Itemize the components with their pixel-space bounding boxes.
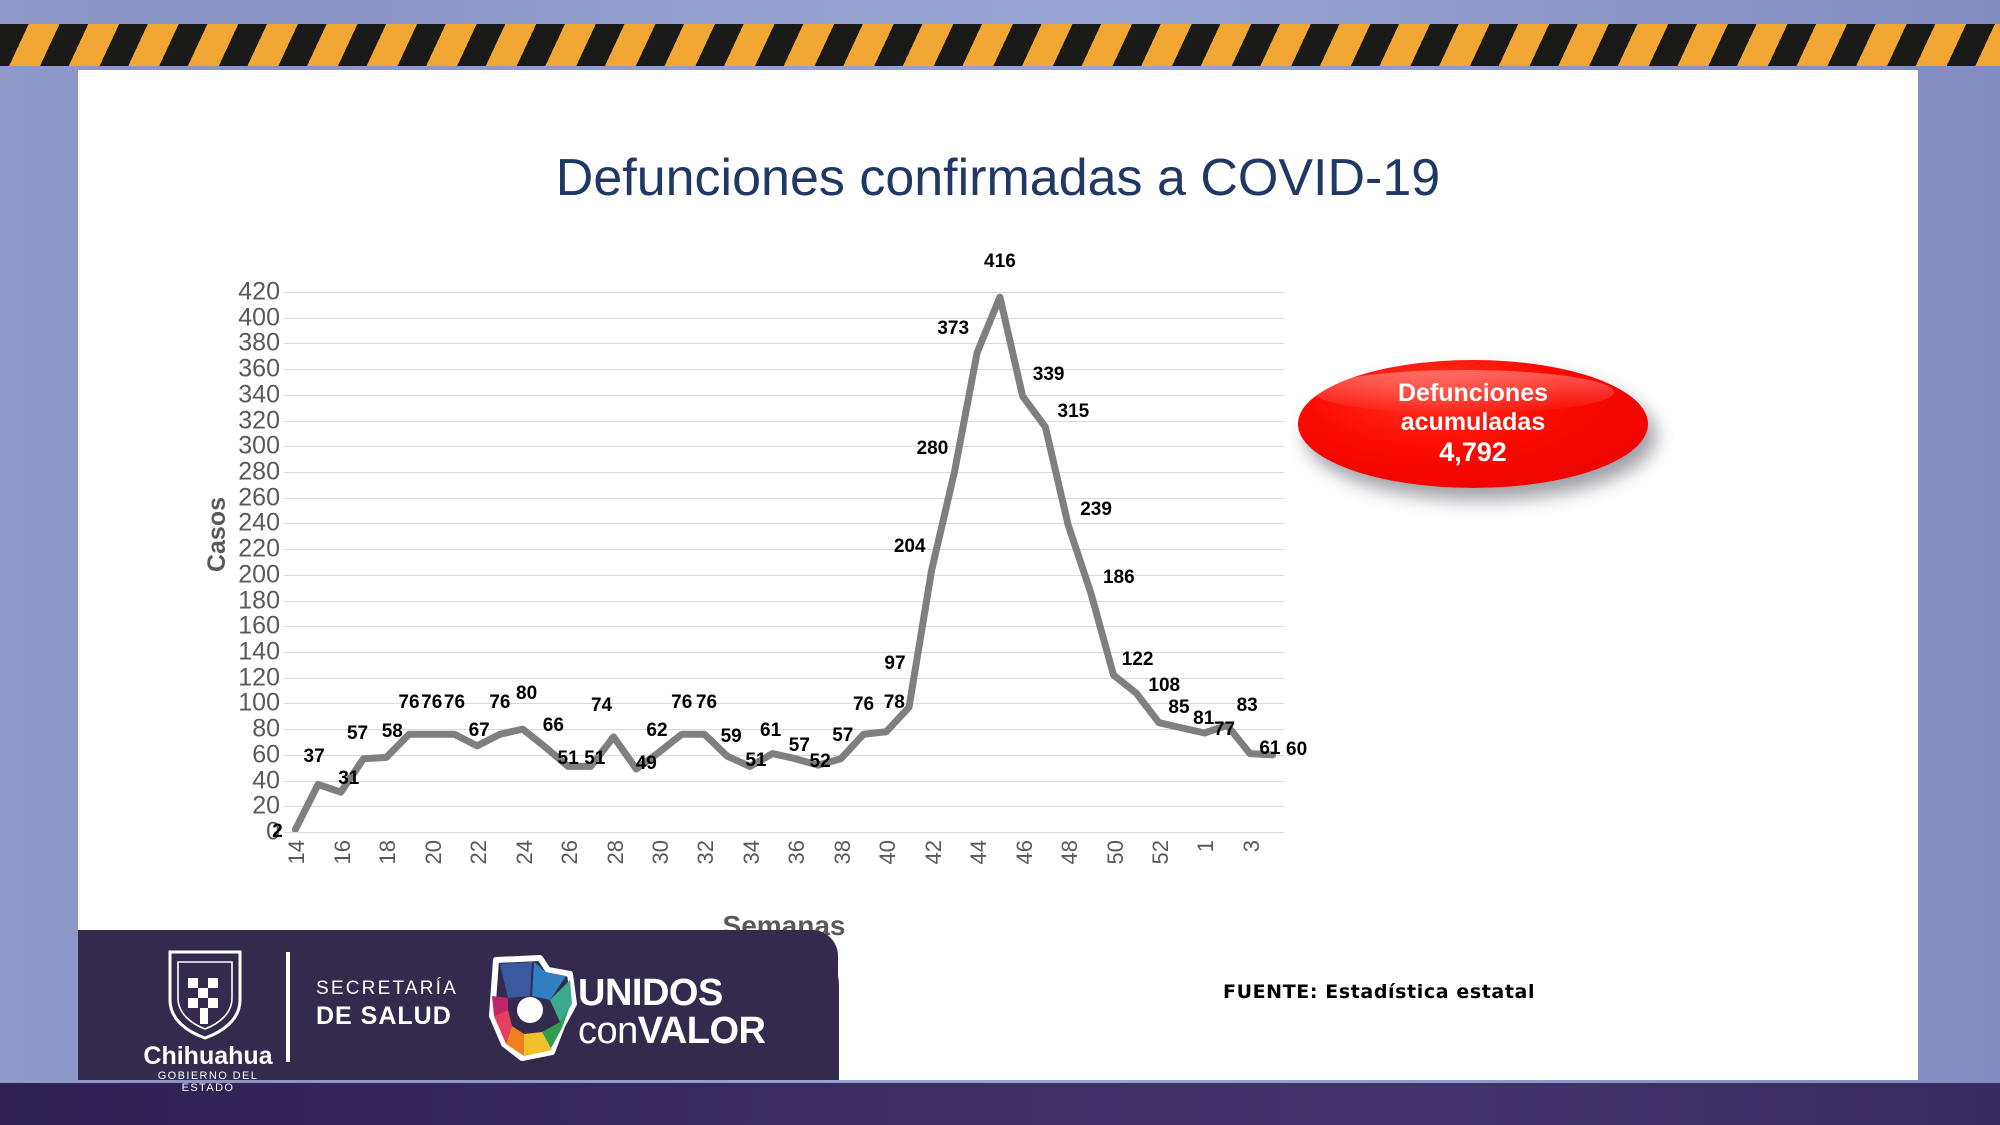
y-axis-tick-label: 300: [190, 434, 280, 459]
data-point-label: 85: [1168, 697, 1189, 719]
data-point-label: 57: [832, 725, 853, 747]
data-point-label: 31: [338, 768, 359, 790]
data-point-label: 76: [489, 692, 510, 714]
y-axis-tick-label: 40: [190, 768, 280, 793]
x-axis-tick-label: 46: [1012, 840, 1038, 864]
data-point-label: 76: [853, 694, 874, 716]
data-point-label: 204: [894, 536, 926, 558]
x-axis-tick-label: 44: [966, 840, 992, 864]
data-point-label: 60: [1286, 739, 1307, 761]
data-point-label: 76: [444, 692, 465, 714]
gov-subtitle: GOBIERNO DEL ESTADO: [130, 1070, 286, 1094]
chart-container: Casos 0204060801001201401601802002202402…: [188, 220, 1588, 1000]
data-point-label: 52: [810, 751, 831, 773]
x-axis-tick-label: 28: [603, 840, 629, 864]
data-point-label: 59: [721, 726, 742, 748]
brand-valor: VALOR: [638, 1010, 766, 1052]
data-point-label: 416: [984, 251, 1016, 273]
y-axis-tick-label: 340: [190, 382, 280, 407]
page-title: Defunciones confirmadas a COVID-19: [78, 148, 1918, 208]
data-point-label: 77: [1214, 719, 1235, 741]
data-point-label: 80: [516, 683, 537, 705]
data-point-label: 67: [469, 720, 490, 742]
y-axis-tick-label: 20: [190, 794, 280, 819]
y-axis-tick-label: 0: [190, 820, 280, 845]
y-axis-tick-label: 60: [190, 742, 280, 767]
data-point-label: 239: [1080, 499, 1112, 521]
data-point-label: 339: [1033, 364, 1065, 386]
x-axis-tick-label: 1: [1193, 840, 1219, 852]
x-axis-tick-label: 30: [648, 840, 674, 864]
x-axis-tick-label: 22: [466, 840, 492, 864]
x-axis-tick-label: 38: [830, 840, 856, 864]
x-axis-tick-label: 16: [330, 840, 356, 864]
data-point-label: 81: [1193, 708, 1214, 730]
unidos-con-valor-map-icon: [478, 952, 588, 1064]
data-point-label: 2: [272, 821, 283, 843]
source-note: FUENTE: Estadística estatal: [1223, 981, 1535, 1003]
y-axis-tick-label: 160: [190, 614, 280, 639]
chihuahua-shield-icon: [166, 948, 244, 1040]
y-axis-tick-label: 280: [190, 460, 280, 485]
hazard-stripe-decoration: [0, 24, 2000, 66]
data-point-label: 61: [760, 720, 781, 742]
chart-plot-area: 0204060801001201401601802002202402602803…: [284, 292, 1284, 832]
callout-line-2: acumuladas: [1401, 408, 1546, 437]
slide-canvas: Defunciones confirmadas a COVID-19 Casos…: [78, 70, 1918, 1080]
data-point-label: 76: [398, 692, 419, 714]
x-axis-tick-label: 40: [875, 840, 901, 864]
data-point-label: 373: [937, 318, 969, 340]
accumulated-deaths-callout: Defunciones acumuladas 4,792: [1298, 360, 1648, 488]
data-point-label: 51: [558, 748, 579, 770]
y-axis-tick-label: 260: [190, 485, 280, 510]
y-axis-tick-label: 360: [190, 357, 280, 382]
x-axis-tick-label: 24: [512, 840, 538, 864]
footer-divider: [286, 952, 290, 1062]
y-axis-tick-label: 140: [190, 640, 280, 665]
x-axis-tick-label: 48: [1057, 840, 1083, 864]
callout-value: 4,792: [1439, 437, 1507, 468]
callout-line-1: Defunciones: [1398, 379, 1548, 408]
data-point-label: 62: [646, 720, 667, 742]
y-axis-tick-label: 200: [190, 562, 280, 587]
y-axis-tick-label: 80: [190, 717, 280, 742]
y-axis-tick-label: 420: [190, 280, 280, 305]
y-axis-tick-label: 400: [190, 305, 280, 330]
x-axis-tick-label: 26: [557, 840, 583, 864]
gov-name: Chihuahua: [138, 1042, 278, 1071]
data-point-label: 76: [421, 692, 442, 714]
x-axis-tick-label: 34: [739, 840, 765, 864]
data-point-label: 83: [1237, 695, 1258, 717]
y-axis-tick-label: 180: [190, 588, 280, 613]
secretaria-line-2: DE SALUD: [316, 1002, 452, 1031]
footer-branding-bar: Chihuahua GOBIERNO DEL ESTADO SECRETARÍA…: [78, 930, 838, 1080]
y-axis-tick-label: 120: [190, 665, 280, 690]
brand-con: con: [578, 1010, 638, 1052]
y-axis-tick-label: 240: [190, 511, 280, 536]
x-axis-tick-label: 52: [1148, 840, 1174, 864]
y-axis-tick-label: 220: [190, 537, 280, 562]
data-point-label: 66: [543, 715, 564, 737]
data-point-label: 78: [884, 692, 905, 714]
data-point-label: 97: [884, 653, 905, 675]
x-axis-tick-label: 14: [284, 840, 310, 864]
data-point-label: 76: [696, 692, 717, 714]
background-bottom-band: [0, 1083, 2000, 1125]
x-axis-tick-label: 18: [375, 840, 401, 864]
y-axis-tick-label: 320: [190, 408, 280, 433]
data-point-label: 58: [382, 721, 403, 743]
data-point-label: 51: [584, 748, 605, 770]
data-point-label: 186: [1103, 567, 1135, 589]
secretaria-line-1: SECRETARÍA: [316, 978, 458, 1000]
data-point-label: 74: [591, 695, 612, 717]
x-axis-tick-label: 36: [784, 840, 810, 864]
data-point-label: 61: [1259, 738, 1280, 760]
brand-convalor: conVALOR: [578, 1010, 765, 1053]
y-axis-tick-label: 100: [190, 691, 280, 716]
brand-unidos: UNIDOS: [578, 972, 723, 1015]
data-point-label: 51: [745, 750, 766, 772]
x-axis-tick-label: 50: [1103, 840, 1129, 864]
data-point-label: 108: [1148, 675, 1180, 697]
x-axis-tick-label: 20: [421, 840, 447, 864]
data-point-label: 37: [304, 746, 325, 768]
x-axis-tick-label: 42: [921, 840, 947, 864]
data-point-label: 49: [636, 753, 657, 775]
data-point-label: 76: [671, 692, 692, 714]
x-axis-tick-label: 32: [693, 840, 719, 864]
data-series-line: [284, 292, 1284, 832]
data-point-label: 122: [1122, 649, 1154, 671]
data-point-label: 57: [789, 735, 810, 757]
x-axis-tick-label: 3: [1239, 840, 1265, 852]
data-point-label: 280: [917, 438, 949, 460]
data-point-label: 57: [347, 723, 368, 745]
gridline: [284, 832, 1284, 833]
data-point-label: 315: [1058, 401, 1090, 423]
y-axis-tick-label: 380: [190, 331, 280, 356]
